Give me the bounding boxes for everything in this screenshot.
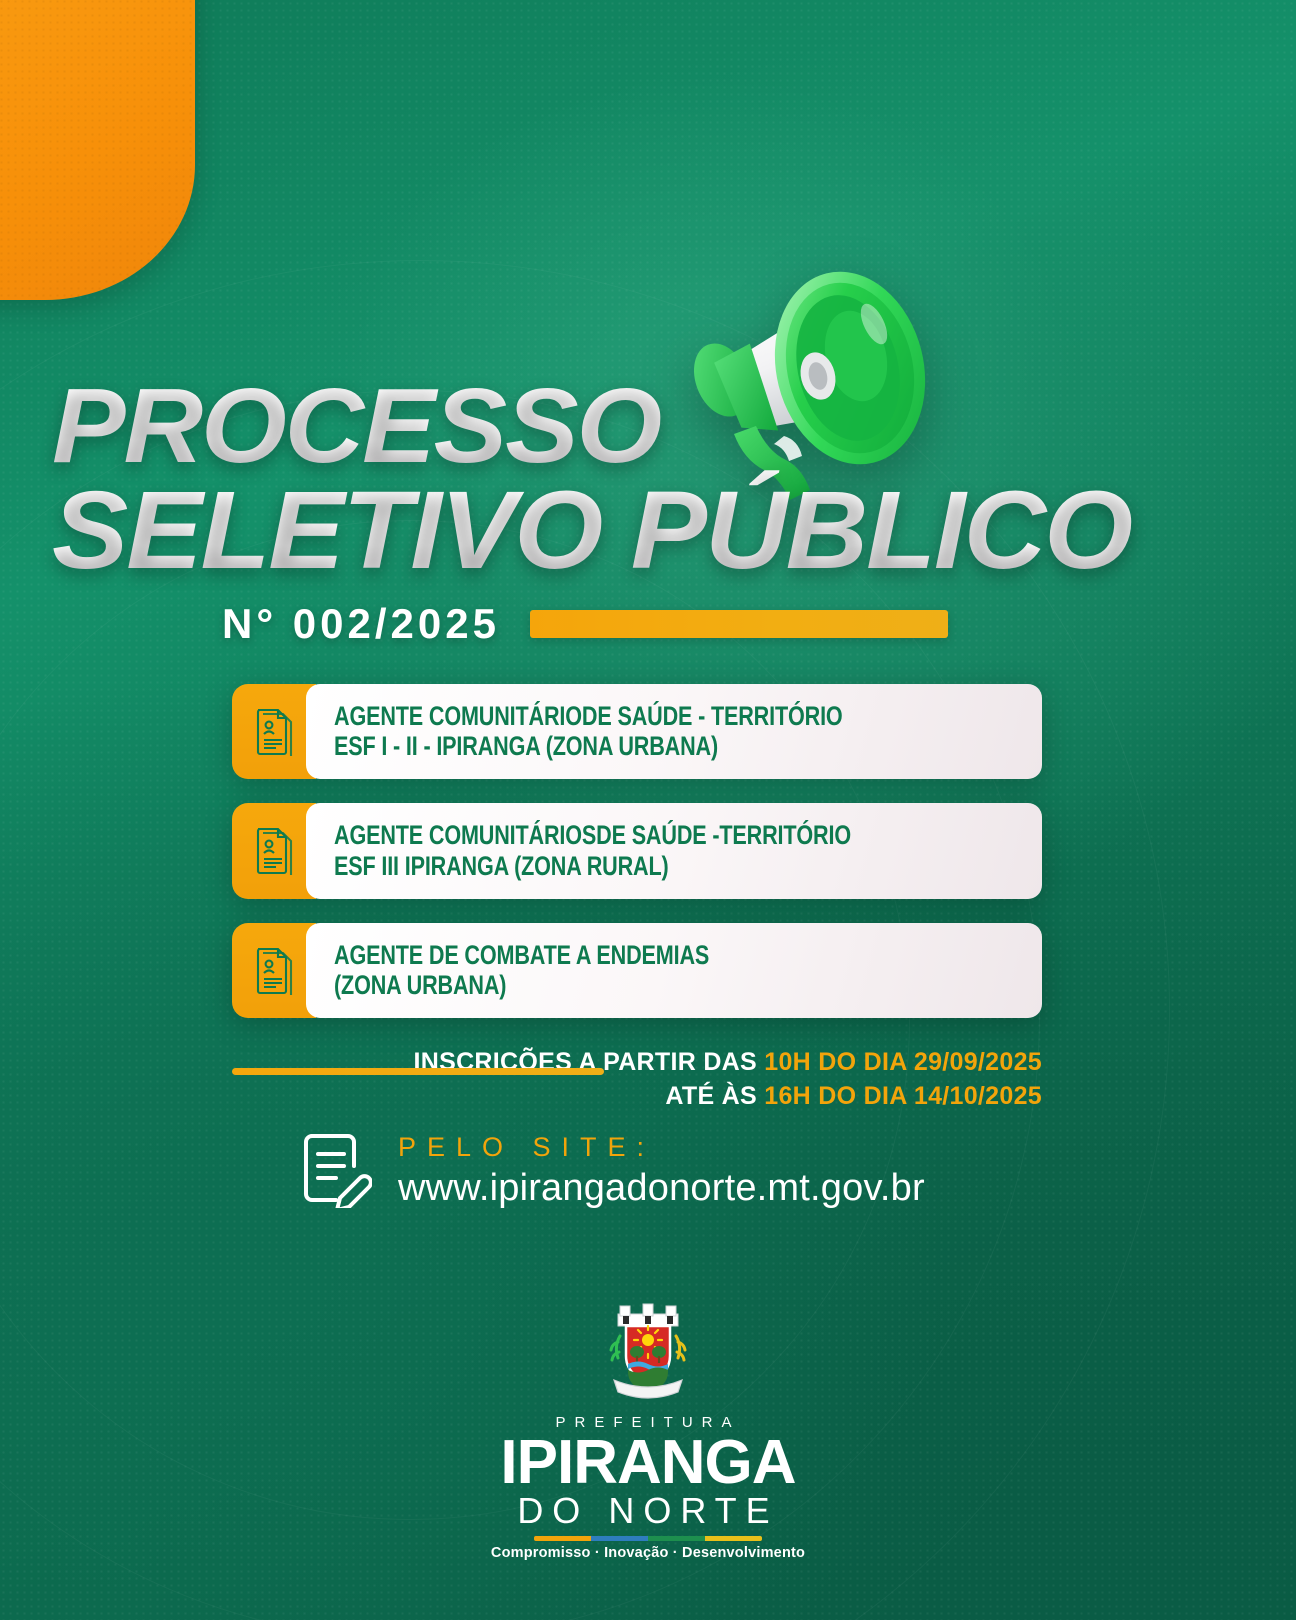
website-block[interactable]: PELO SITE: www.ipirangadonorte.mt.gov.br xyxy=(300,1128,925,1213)
poster-canvas: PROCESSO SELETIVO PÚBLICO N° 002/2025 xyxy=(0,0,1296,1620)
job-title-line-1: AGENTE DE COMBATE A ENDEMIAS xyxy=(334,940,881,970)
job-title-line-1: AGENTE COMUNITÁRIODE SAÚDE - TERRITÓRIO xyxy=(334,701,881,731)
strip-green xyxy=(648,1536,705,1541)
website-url[interactable]: www.ipirangadonorte.mt.gov.br xyxy=(398,1167,925,1210)
strip-blue xyxy=(591,1536,648,1541)
job-title-line-2: ESF III IPIRANGA (ZONA RURAL) xyxy=(334,851,881,881)
process-number-row: N° 002/2025 xyxy=(222,600,948,648)
dates-line-2-prefix: ATÉ ÀS xyxy=(665,1082,764,1110)
job-title-line-2: (ZONA URBANA) xyxy=(334,970,881,1000)
strip-orange xyxy=(534,1536,591,1541)
registration-dates: INSCRIÇÕES A PARTIR DAS 10H DO DIA 29/09… xyxy=(232,1046,1042,1113)
headline-line-2-text: SELETIVO PÚBLICO xyxy=(52,469,1131,592)
corner-texture xyxy=(0,0,195,300)
document-pencil-icon xyxy=(300,1128,372,1213)
list-item[interactable]: AGENTE COMUNITÁRIOSDE SAÚDE -TERRITÓRIO … xyxy=(232,803,1042,898)
dates-line-2: ATÉ ÀS 16H DO DIA 14/10/2025 xyxy=(232,1080,1042,1114)
coat-of-arms-icon xyxy=(588,1288,708,1408)
job-card-body: AGENTE COMUNITÁRIOSDE SAÚDE -TERRITÓRIO … xyxy=(306,803,1042,898)
divider-rule xyxy=(232,1068,604,1075)
website-text: PELO SITE: www.ipirangadonorte.mt.gov.br xyxy=(398,1132,925,1210)
job-title: AGENTE DE COMBATE A ENDEMIAS (ZONA URBAN… xyxy=(334,940,881,1000)
orange-corner-shape xyxy=(0,0,195,300)
page-title: PROCESSO SELETIVO PÚBLICO xyxy=(52,378,1252,581)
headline-line-1-text: PROCESSO xyxy=(52,367,660,485)
job-card-body: AGENTE COMUNITÁRIODE SAÚDE - TERRITÓRIO … xyxy=(306,684,1042,779)
resume-document-icon xyxy=(232,923,316,1018)
list-item[interactable]: AGENTE DE COMBATE A ENDEMIAS (ZONA URBAN… xyxy=(232,923,1042,1018)
job-title: AGENTE COMUNITÁRIODE SAÚDE - TERRITÓRIO … xyxy=(334,701,881,761)
resume-document-icon xyxy=(232,684,316,779)
dates-line-2-highlight: 16H DO DIA 14/10/2025 xyxy=(764,1082,1042,1110)
resume-document-icon xyxy=(232,803,316,898)
tagline: Compromisso · Inovação · Desenvolvimento xyxy=(0,1545,1296,1561)
region-name: DO NORTE xyxy=(0,1492,1296,1530)
job-title-line-1: AGENTE COMUNITÁRIOSDE SAÚDE -TERRITÓRIO xyxy=(334,820,881,850)
list-item[interactable]: AGENTE COMUNITÁRIODE SAÚDE - TERRITÓRIO … xyxy=(232,684,1042,779)
accent-bar xyxy=(530,610,948,638)
process-number: N° 002/2025 xyxy=(222,600,500,648)
job-list: AGENTE COMUNITÁRIODE SAÚDE - TERRITÓRIO … xyxy=(232,684,1042,1042)
dates-line-1-highlight: 10H DO DIA 29/09/2025 xyxy=(764,1048,1042,1076)
strip-yellow xyxy=(705,1536,762,1541)
job-title-line-2: ESF I - II - IPIRANGA (ZONA URBANA) xyxy=(334,731,881,761)
job-card-body: AGENTE DE COMBATE A ENDEMIAS (ZONA URBAN… xyxy=(306,923,1042,1018)
color-strip xyxy=(534,1536,762,1541)
headline-line-2: SELETIVO PÚBLICO xyxy=(52,480,1296,581)
dates-text-block: INSCRIÇÕES A PARTIR DAS 10H DO DIA 29/09… xyxy=(232,1046,1042,1113)
city-name: IPIRANGA xyxy=(0,1433,1296,1494)
footer-logo: PREFEITURA IPIRANGA DO NORTE Compromisso… xyxy=(0,1288,1296,1561)
job-title: AGENTE COMUNITÁRIOSDE SAÚDE -TERRITÓRIO … xyxy=(334,820,881,880)
headline-line-1: PROCESSO xyxy=(52,378,1296,476)
website-label: PELO SITE: xyxy=(398,1132,925,1163)
